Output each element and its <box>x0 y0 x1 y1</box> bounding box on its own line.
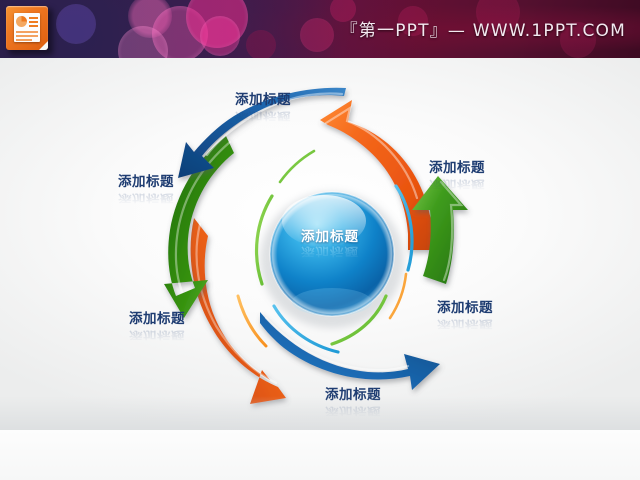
label-top-text: 添加标题 <box>235 92 291 108</box>
label-bottom-right-text: 添加标题 <box>437 300 493 316</box>
label-bottom-left-reflection: 添加标题 <box>129 329 185 344</box>
logo-document <box>14 13 40 42</box>
label-top-left-text: 添加标题 <box>118 174 174 190</box>
diagram-svg <box>120 78 540 418</box>
logo-text-line <box>29 25 38 27</box>
label-bottom-text: 添加标题 <box>325 387 381 403</box>
logo-text-line <box>29 21 38 23</box>
slide-body: 添加标题 添加标题 添加标题 添加标题 添加标题 添加标题 添加标题 添加标题 … <box>0 58 640 430</box>
bokeh-circle <box>152 6 208 58</box>
bokeh-circle <box>56 4 96 44</box>
label-top-reflection: 添加标题 <box>235 110 291 125</box>
powerpoint-logo-icon <box>6 6 50 52</box>
bokeh-circle <box>186 0 248 48</box>
logo-text-line <box>16 39 32 41</box>
circular-process-diagram: 添加标题 添加标题 <box>120 78 540 418</box>
bokeh-circle <box>246 30 276 58</box>
footer-bar: 第一PPT HTTP://WWW.1PPT.COM <box>0 430 640 480</box>
label-top-left-reflection: 添加标题 <box>118 192 174 207</box>
label-bottom-reflection: 添加标题 <box>325 405 381 420</box>
label-top-right[interactable]: 添加标题 添加标题 <box>429 156 485 195</box>
label-top-right-text: 添加标题 <box>429 160 485 176</box>
bokeh-circle <box>200 16 240 56</box>
bokeh-circle <box>118 26 168 58</box>
label-bottom-right[interactable]: 添加标题 添加标题 <box>437 296 493 335</box>
header-banner: 『第一PPT』— WWW.1PPT.COM <box>0 0 640 58</box>
logo-body <box>6 6 48 50</box>
label-bottom-right-reflection: 添加标题 <box>437 318 493 333</box>
label-bottom-left[interactable]: 添加标题 添加标题 <box>129 307 185 346</box>
center-sphere[interactable] <box>270 192 394 316</box>
label-bottom-left-text: 添加标题 <box>129 311 185 327</box>
slide-canvas: 『第一PPT』— WWW.1PPT.COM <box>0 0 640 480</box>
label-bottom[interactable]: 添加标题 添加标题 <box>325 383 381 422</box>
logo-text-line <box>16 35 38 37</box>
logo-text-line <box>16 31 38 33</box>
label-top-left[interactable]: 添加标题 添加标题 <box>118 170 174 209</box>
label-top-right-reflection: 添加标题 <box>429 178 485 193</box>
logo-text-line <box>29 17 38 19</box>
label-top[interactable]: 添加标题 添加标题 <box>235 88 291 127</box>
pie-chart-icon <box>16 16 27 27</box>
accent-stroke-green <box>280 151 314 182</box>
bokeh-circle <box>300 18 334 52</box>
bokeh-circle <box>128 0 172 38</box>
header-title: 『第一PPT』— WWW.1PPT.COM <box>341 16 626 41</box>
